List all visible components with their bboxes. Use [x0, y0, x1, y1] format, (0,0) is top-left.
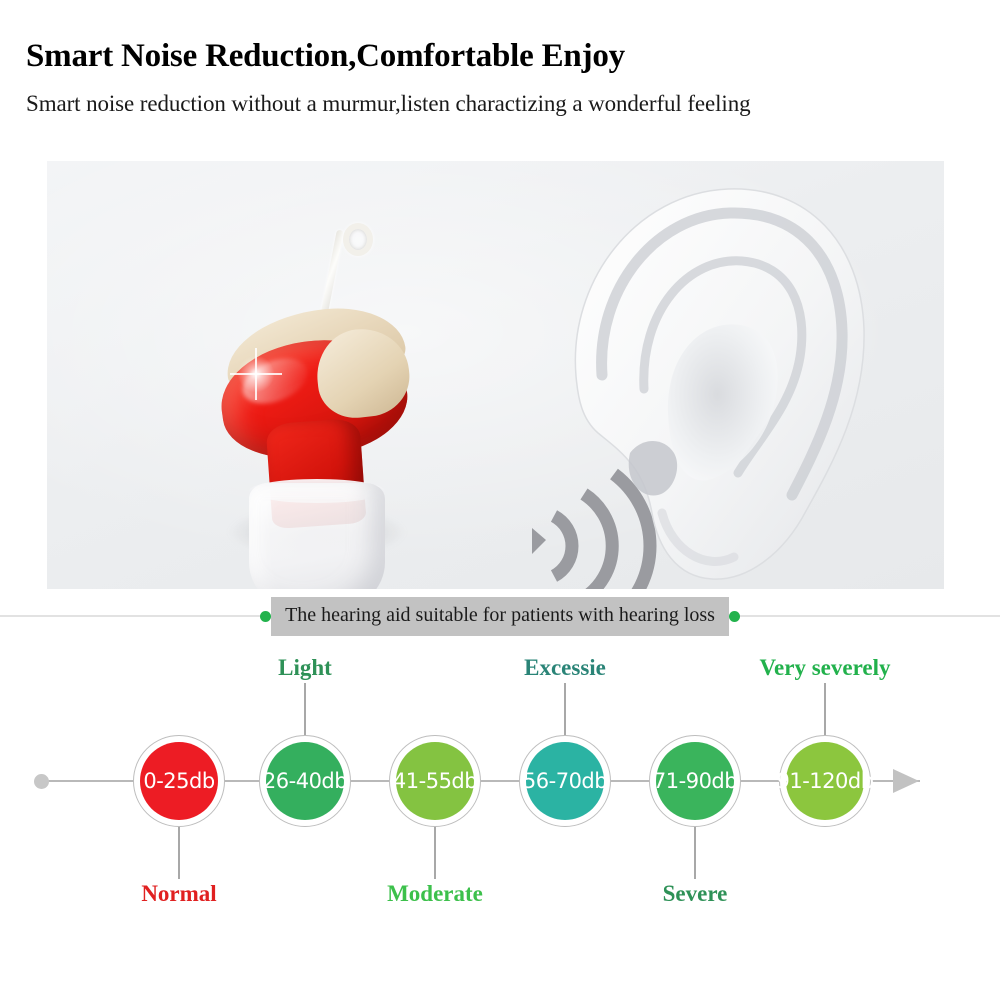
node-disc: 56-70db: [526, 742, 604, 820]
divider-dot-right-icon: [729, 611, 740, 622]
node-disc: 26-40db: [266, 742, 344, 820]
hearing-severity-timeline: 0-25db Normal 26-40db Light 41-55db Mode…: [0, 645, 1000, 925]
node-caption: Light: [278, 655, 332, 681]
device-wire-loop: [343, 223, 373, 256]
node-stem: [304, 683, 306, 735]
node-stem: [178, 827, 180, 879]
severity-node-very-severely[interactable]: 91-120db Very severely: [779, 735, 871, 827]
ear-illustration: [516, 161, 936, 589]
page-title: Smart Noise Reduction,Comfortable Enjoy: [26, 38, 1000, 74]
node-disc: 91-120db: [786, 742, 864, 820]
divider-line-right: [740, 615, 1000, 617]
severity-node-normal[interactable]: 0-25db Normal: [133, 735, 225, 827]
node-stem: [824, 683, 826, 735]
node-caption: Very severely: [760, 655, 891, 681]
timeline-arrow-icon: [893, 769, 919, 793]
device-sparkle-icon: [235, 353, 277, 395]
severity-node-severe[interactable]: 71-90db Severe: [649, 735, 741, 827]
severity-node-light[interactable]: 26-40db Light: [259, 735, 351, 827]
divider-line-left: [0, 615, 260, 617]
node-db-label: 26-40db: [263, 769, 347, 793]
page-header: Smart Noise Reduction,Comfortable Enjoy …: [0, 0, 1000, 117]
severity-node-excessie[interactable]: 56-70db Excessie: [519, 735, 611, 827]
node-stem: [694, 827, 696, 879]
page-subtitle: Smart noise reduction without a murmur,l…: [26, 91, 1000, 117]
severity-node-moderate[interactable]: 41-55db Moderate: [389, 735, 481, 827]
node-disc: 71-90db: [656, 742, 734, 820]
node-caption: Excessie: [524, 655, 606, 681]
node-db-label: 56-70db: [523, 769, 607, 793]
node-caption: Moderate: [387, 881, 483, 907]
node-caption: Normal: [141, 881, 216, 907]
hearing-aid-device-illustration: [197, 221, 427, 581]
hero-image: [47, 161, 944, 589]
timeline-start-dot-icon: [34, 774, 49, 789]
divider-banner-row: The hearing aid suitable for patients wi…: [0, 596, 1000, 636]
node-disc: 0-25db: [140, 742, 218, 820]
node-db-label: 91-120db: [776, 769, 873, 793]
node-disc: 41-55db: [396, 742, 474, 820]
node-stem: [564, 683, 566, 735]
node-db-label: 41-55db: [393, 769, 477, 793]
node-db-label: 71-90db: [653, 769, 737, 793]
node-caption: Severe: [663, 881, 728, 907]
node-db-label: 0-25db: [143, 769, 214, 793]
divider-dot-left-icon: [260, 611, 271, 622]
product-infographic-page: Smart Noise Reduction,Comfortable Enjoy …: [0, 0, 1000, 1000]
device-silicone-dome: [249, 483, 385, 589]
hearing-loss-banner: The hearing aid suitable for patients wi…: [271, 597, 729, 636]
node-stem: [434, 827, 436, 879]
